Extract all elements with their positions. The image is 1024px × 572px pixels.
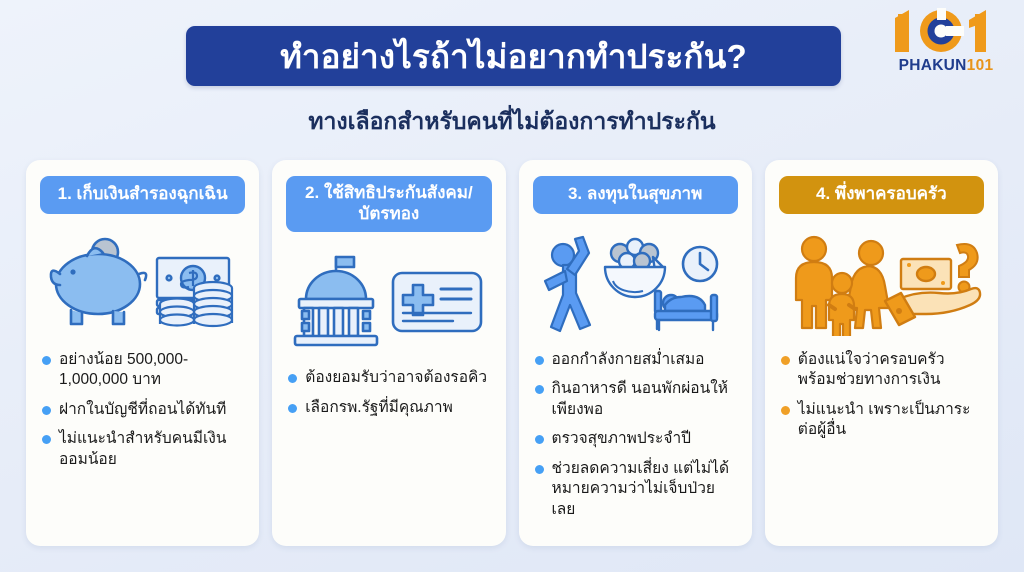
bullet-text: ต้องยอมรับว่าอาจต้องรอคิว	[305, 368, 487, 388]
list-item: อย่างน้อย 500,000-1,000,000 บาท	[42, 350, 243, 391]
bullet-dot-icon	[42, 406, 51, 415]
bullet-dot-icon	[535, 435, 544, 444]
bullet-text: ตรวจสุขภาพประจำปี	[552, 429, 692, 449]
bullet-list-3: ออกกำลังกายสม่ำเสมอ กินอาหารดี นอนพักผ่อ…	[533, 350, 738, 529]
page-title: ทำอย่างไรถ้าไม่อยากทำประกัน?	[280, 40, 747, 73]
bullet-text: ฝากในบัญชีที่ถอนได้ทันที	[59, 400, 226, 420]
bullet-text: ช่วยลดความเสี่ยง แต่ไม่ได้หมายความว่าไม่…	[552, 459, 736, 520]
card-heading-1: 1. เก็บเงินสำรองฉุกเฉิน	[40, 176, 245, 214]
illustration-emergency-fund	[40, 218, 245, 348]
bullet-dot-icon	[535, 465, 544, 474]
list-item: ต้องยอมรับว่าอาจต้องรอคิว	[288, 368, 489, 388]
bullet-dot-icon	[535, 356, 544, 365]
list-item: ตรวจสุขภาพประจำปี	[535, 429, 736, 449]
list-item: ช่วยลดความเสี่ยง แต่ไม่ได้หมายความว่าไม่…	[535, 459, 736, 520]
bullet-text: ไม่แนะนำ เพราะเป็นภาระต่อผู้อื่น	[798, 400, 982, 441]
title-banner: ทำอย่างไรถ้าไม่อยากทำประกัน?	[186, 26, 841, 86]
bullet-text: ไม่แนะนำสำหรับคนมีเงินออมน้อย	[59, 429, 243, 470]
card-family-support: 4. พึ่งพาครอบครัว	[765, 160, 998, 546]
illustration-family-support	[779, 218, 984, 348]
options-card-row: 1. เก็บเงินสำรองฉุกเฉิน	[26, 160, 998, 546]
bullet-dot-icon	[42, 356, 51, 365]
list-item: ไม่แนะนำสำหรับคนมีเงินออมน้อย	[42, 429, 243, 470]
bullet-list-2: ต้องยอมรับว่าอาจต้องรอคิว เลือกรพ.รัฐที่…	[286, 368, 491, 427]
list-item: กินอาหารดี นอนพักผ่อนให้เพียงพอ	[535, 379, 736, 420]
bullet-dot-icon	[42, 435, 51, 444]
bullet-text: กินอาหารดี นอนพักผ่อนให้เพียงพอ	[552, 379, 736, 420]
bullet-dot-icon	[535, 385, 544, 394]
list-item: ต้องแน่ใจว่าครอบครัวพร้อมช่วยทางการเงิน	[781, 350, 982, 391]
illustration-health-investment	[533, 218, 738, 348]
logo-101-icon	[891, 6, 1001, 56]
card-social-security: 2. ใช้สิทธิประกันสังคม/บัตรทอง	[272, 160, 505, 546]
list-item: ไม่แนะนำ เพราะเป็นภาระต่อผู้อื่น	[781, 400, 982, 441]
logo-wordmark-prefix: PHAKUN	[899, 57, 967, 74]
bullet-dot-icon	[781, 406, 790, 415]
list-item: ฝากในบัญชีที่ถอนได้ทันที	[42, 400, 243, 420]
brand-logo: PHAKUN101	[886, 6, 1006, 74]
list-item: เลือกรพ.รัฐที่มีคุณภาพ	[288, 398, 489, 418]
bullet-text: เลือกรพ.รัฐที่มีคุณภาพ	[305, 398, 453, 418]
list-item: ออกกำลังกายสม่ำเสมอ	[535, 350, 736, 370]
card-heading-3: 3. ลงทุนในสุขภาพ	[533, 176, 738, 214]
card-health-investment: 3. ลงทุนในสุขภาพ	[519, 160, 752, 546]
bullet-dot-icon	[781, 356, 790, 365]
bullet-list-4: ต้องแน่ใจว่าครอบครัวพร้อมช่วยทางการเงิน …	[779, 350, 984, 450]
logo-mark-101	[886, 6, 1006, 56]
illustration-social-security	[286, 236, 491, 366]
bullet-list-1: อย่างน้อย 500,000-1,000,000 บาท ฝากในบัญ…	[40, 350, 245, 479]
card-emergency-fund: 1. เก็บเงินสำรองฉุกเฉิน	[26, 160, 259, 546]
bullet-dot-icon	[288, 374, 297, 383]
page-subtitle: ทางเลือกสำหรับคนที่ไม่ต้องการทำประกัน	[0, 104, 1024, 140]
bullet-text: อย่างน้อย 500,000-1,000,000 บาท	[59, 350, 243, 391]
card-heading-2: 2. ใช้สิทธิประกันสังคม/บัตรทอง	[286, 176, 491, 232]
bullet-text: ออกกำลังกายสม่ำเสมอ	[552, 350, 705, 370]
logo-wordmark-suffix: 101	[967, 57, 994, 74]
bullet-text: ต้องแน่ใจว่าครอบครัวพร้อมช่วยทางการเงิน	[798, 350, 982, 391]
logo-wordmark: PHAKUN101	[886, 58, 1006, 74]
card-heading-4: 4. พึ่งพาครอบครัว	[779, 176, 984, 214]
bullet-dot-icon	[288, 404, 297, 413]
